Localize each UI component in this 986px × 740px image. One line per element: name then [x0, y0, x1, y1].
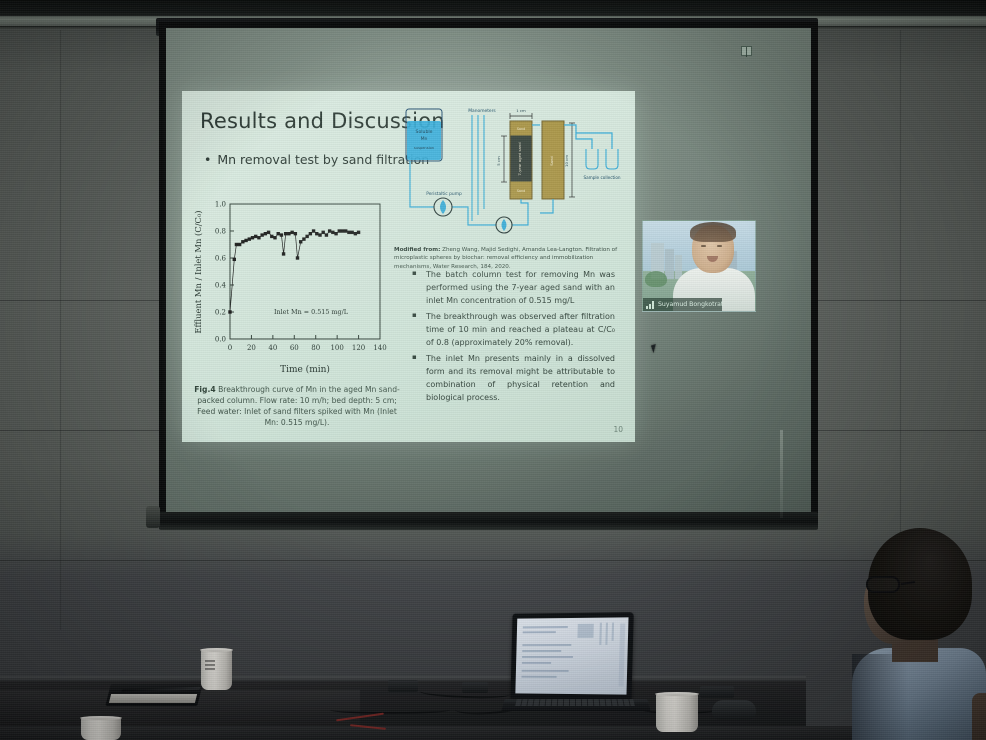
video-background-tree [645, 271, 667, 287]
slide-subtitle-text: Mn removal test by sand filtration [217, 152, 429, 167]
chart-y-axis-label: Effluent Mn / Inlet Mn (C/C₀) [193, 210, 203, 333]
chart-data-point [357, 231, 360, 234]
screen-light-strip [780, 430, 783, 518]
signal-bars-icon [646, 301, 655, 309]
video-background-building [665, 249, 674, 279]
presentation-slide: Results and Discussion •Mn removal test … [182, 91, 635, 442]
diagram-label-sand-top: Sand [517, 127, 526, 131]
video-participant-namebar: Suyamud Bongkotrat [643, 298, 722, 311]
chart-caption-label: Fig.4 [194, 385, 215, 394]
chart-x-tick-label: 60 [290, 344, 299, 352]
diagram-citation-label: Modified from: [394, 247, 440, 253]
diagram-label-sample-collection: Sample collection [583, 175, 620, 180]
slide-bullet-item: The breakthrough was observed after filt… [410, 311, 615, 350]
chart-caption: Fig.4 Breakthrough curve of Mn in the ag… [192, 384, 402, 428]
video-participant-name: Suyamud Bongkotrat [658, 301, 723, 308]
laptop-keyboard[interactable] [515, 699, 635, 706]
screen-mirror-icon [741, 46, 752, 56]
power-adapter [700, 686, 734, 698]
slide-subtitle-bullet: •Mn removal test by sand filtration [204, 152, 429, 167]
chart-y-tick-label: 0.2 [215, 308, 226, 316]
diagram-label-suspension-1: Soluble [416, 129, 433, 135]
chart-x-tick-label: 0 [228, 344, 232, 352]
diagram-label-suspension-2: Mn [421, 136, 428, 142]
power-adapter [388, 680, 418, 692]
slide-bullet-item: The inlet Mn presents mainly in a dissol… [410, 353, 615, 405]
paper-cup [81, 718, 121, 740]
chart-y-tick-label: 0.4 [215, 281, 227, 289]
notebook-pages [109, 694, 197, 703]
chart-x-tick-label: 40 [268, 344, 277, 352]
chart-x-tick-label: 20 [247, 344, 256, 352]
laptop-screen[interactable] [515, 617, 628, 694]
diagram-label-manometers: Manometers [468, 108, 496, 114]
filtration-apparatus-diagram: Soluble Mn suspension Manometers Sand Sa… [400, 103, 630, 248]
diagram-dim-bed: 5 cm [496, 156, 501, 166]
conference-room-scene: Results and Discussion •Mn removal test … [0, 0, 986, 740]
person-shoulder-shadow [852, 654, 908, 740]
slide-bullet-item: The batch column test for removing Mn wa… [410, 269, 615, 308]
diagram-label-suspension-3: suspension [414, 146, 434, 150]
eyeglasses-icon [866, 576, 900, 593]
chart-x-tick-label: 120 [352, 344, 365, 352]
laptop-lid [510, 612, 633, 700]
floor [0, 726, 986, 740]
chart-svg: 0204060801001201400.00.20.40.60.81.0 Tim… [190, 194, 400, 379]
apparatus-svg: Soluble Mn suspension Manometers Sand Sa… [400, 103, 630, 248]
computer-mouse[interactable] [712, 700, 756, 720]
breakthrough-curve-chart: 0204060801001201400.00.20.40.60.81.0 Tim… [190, 194, 400, 379]
diagram-dim-width: 1 cm [516, 108, 526, 113]
slide-bullet-list: The batch column test for removing Mn wa… [410, 269, 615, 408]
power-adapter [462, 682, 488, 693]
diagram-label-peristaltic-pump: Peristaltic pump [426, 191, 462, 197]
diagram-citation: Modified from: Zheng Wang, Majid Sedighi… [394, 246, 630, 271]
chart-x-tick-label: 140 [373, 344, 386, 352]
chart-y-tick-label: 0.6 [215, 254, 227, 262]
projector-screen-bottom-bar [159, 512, 818, 530]
diagram-dim-column: 10 cm [564, 155, 569, 167]
person-foreground [852, 528, 986, 740]
chart-y-tick-label: 1.0 [215, 200, 226, 208]
diagram-label-sand-bottom: Sand [517, 189, 526, 193]
power-cable [330, 706, 450, 714]
slide-number: 10 [613, 425, 623, 434]
bullet-dot-icon: • [204, 152, 211, 167]
paper-cup [201, 650, 232, 690]
diagram-label-column-sand: Sand [549, 156, 554, 166]
diagram-label-media: 7-year aged sand [517, 142, 522, 176]
chart-x-tick-label: 100 [330, 344, 343, 352]
cup-markings [205, 658, 215, 670]
video-participant-hair [690, 222, 736, 242]
person-arm [972, 693, 986, 740]
chart-caption-text: Breakthrough curve of Mn in the aged Mn … [197, 385, 400, 427]
video-participant-tile[interactable]: Suyamud Bongkotrat [642, 220, 756, 312]
chart-x-tick-label: 80 [311, 344, 320, 352]
chart-y-tick-label: 0.0 [215, 335, 226, 343]
projector-screen-mount [146, 506, 160, 528]
paper-cup [656, 694, 698, 732]
chart-annotation: Inlet Mn = 0.515 mg/L [274, 308, 349, 316]
chart-x-axis-label: Time (min) [280, 364, 330, 375]
chart-y-tick-label: 0.8 [215, 227, 226, 235]
